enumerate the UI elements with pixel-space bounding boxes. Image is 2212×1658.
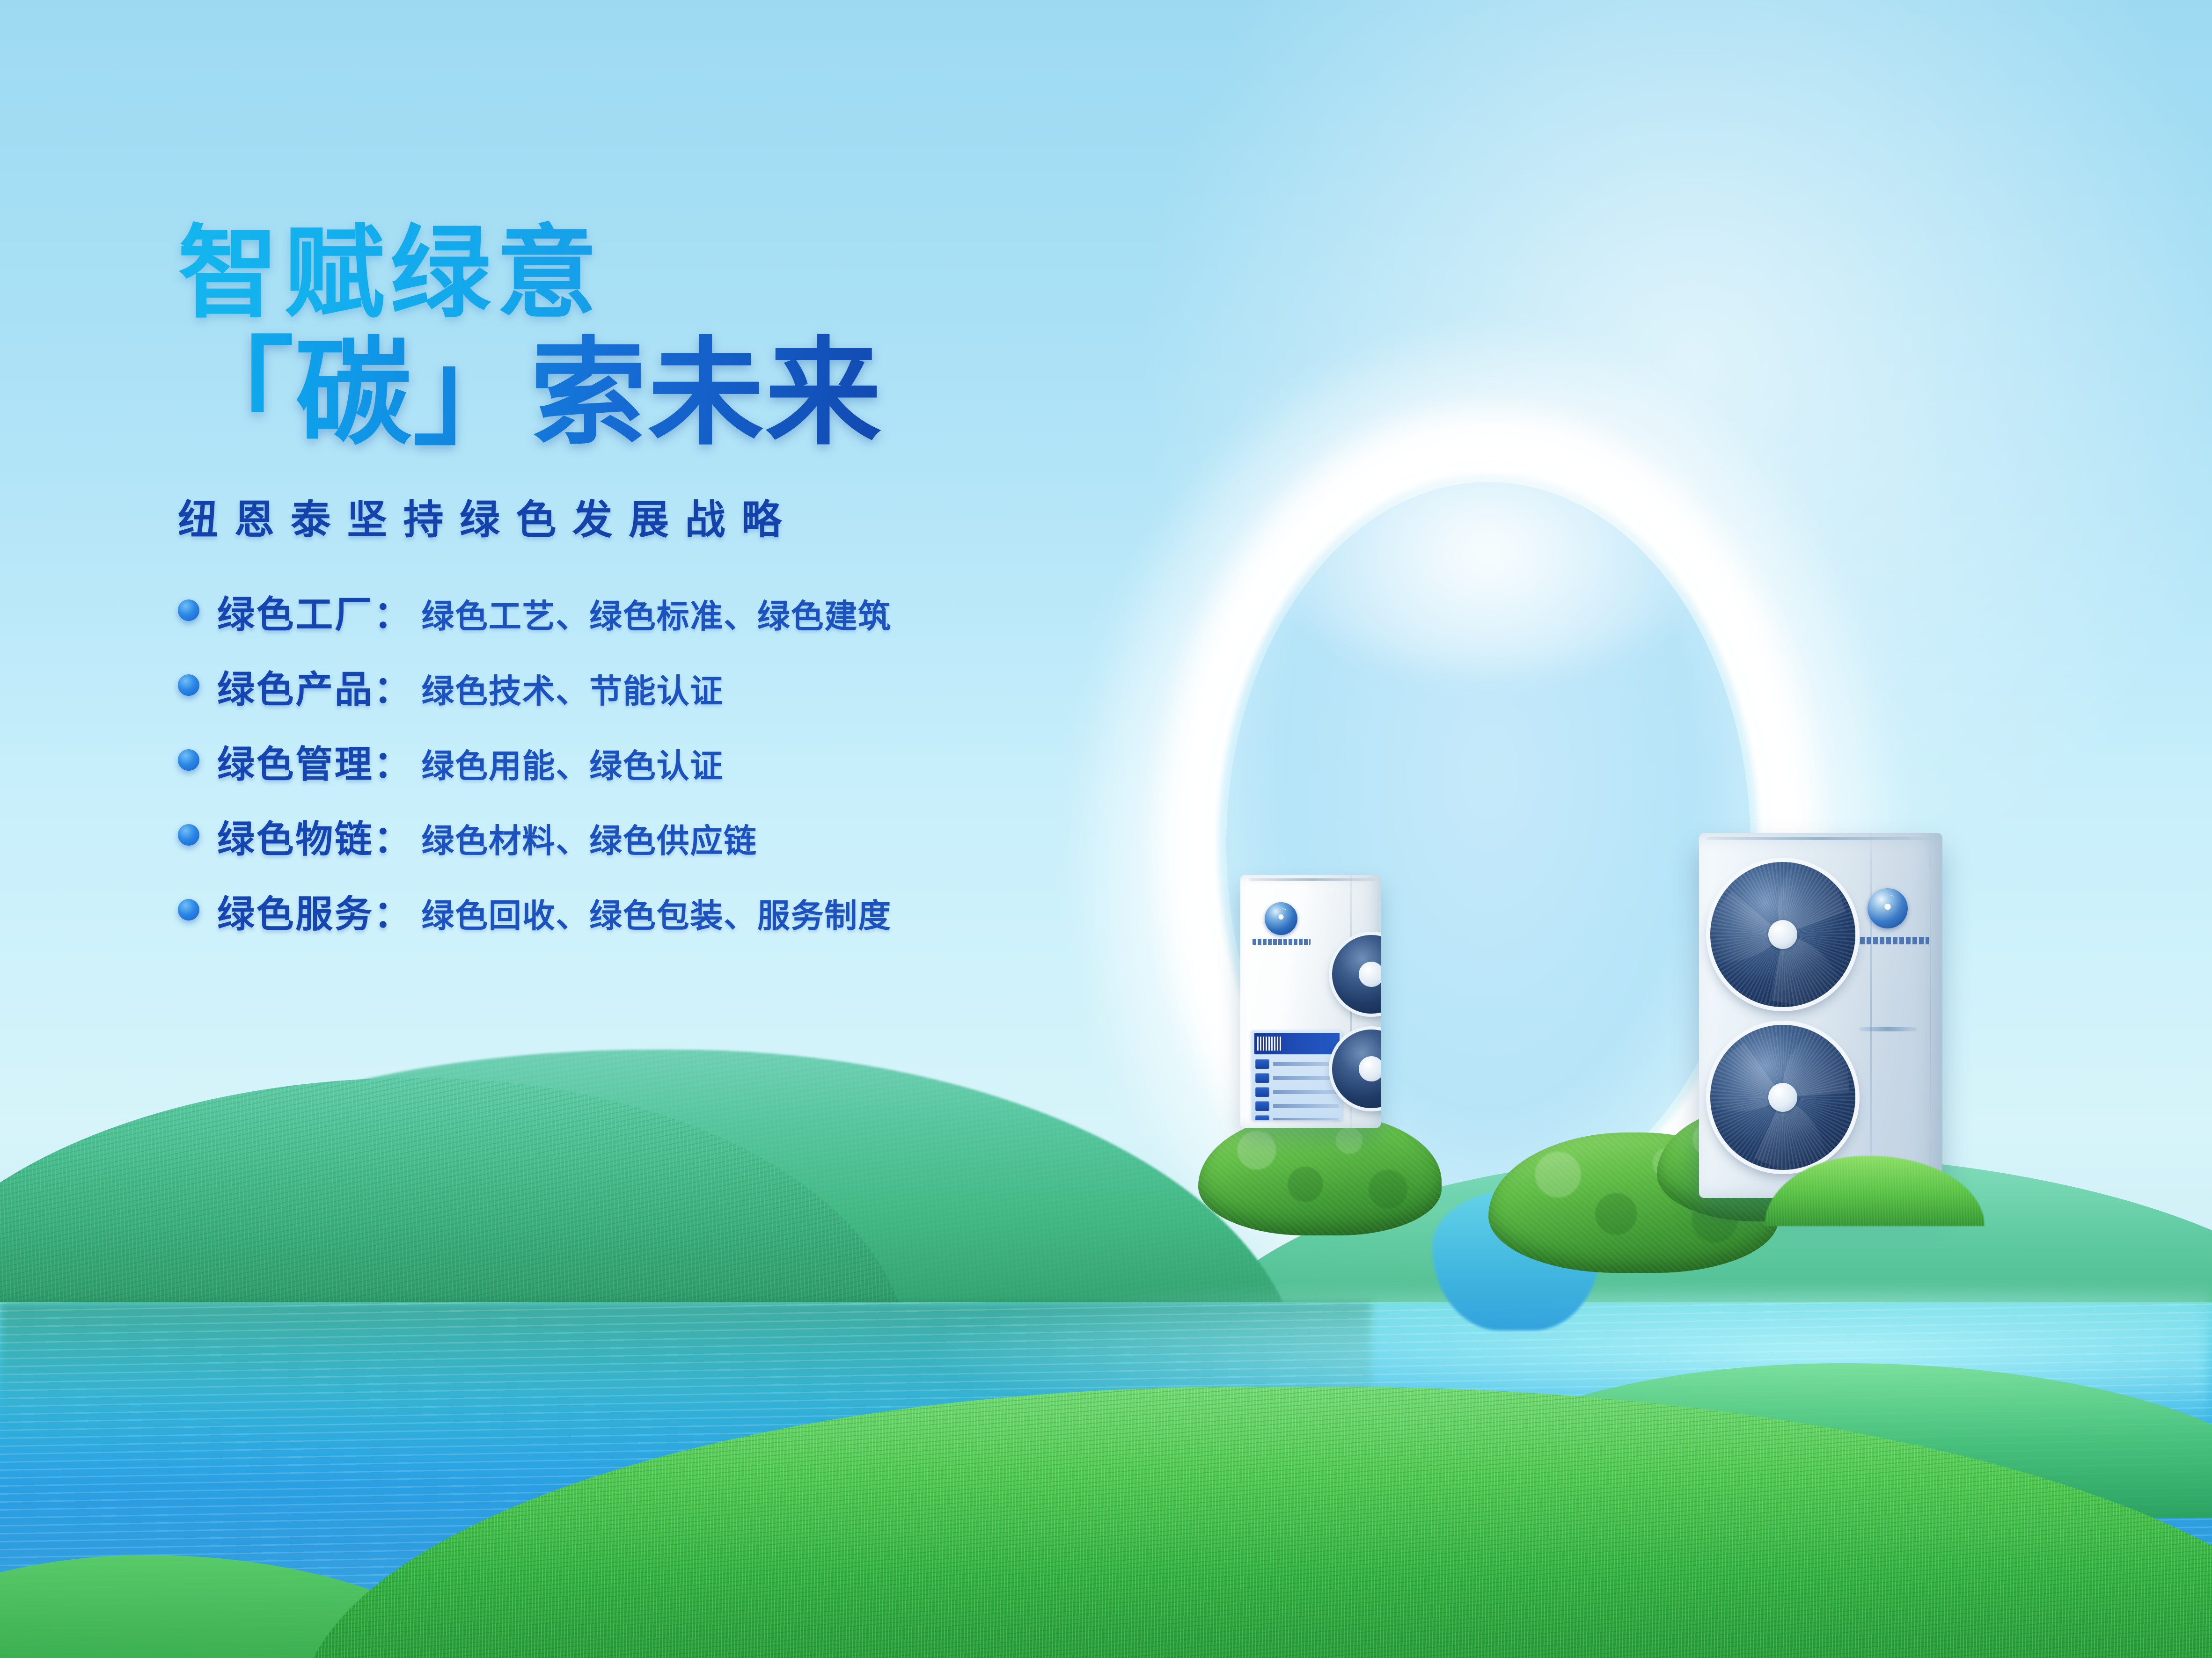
- list-item-colon: ：: [374, 734, 411, 789]
- unit-large-top-rail: [1707, 837, 1935, 840]
- spec-text-line: [1273, 1118, 1339, 1121]
- brand-logo-icon: [1868, 888, 1908, 928]
- spec-chip-icon: [1255, 1059, 1269, 1069]
- fan-hub: [1768, 1083, 1797, 1112]
- list-item: 绿色服务 ： 绿色回收、绿色包装、服务制度: [178, 884, 1184, 938]
- list-item-colon: ：: [374, 659, 411, 714]
- bullet-dot-icon: [178, 749, 199, 771]
- bullet-dot-icon: [178, 824, 199, 846]
- list-item-desc: 绿色材料、绿色供应链: [421, 815, 757, 862]
- unit-small-fan-top: [1332, 935, 1381, 1014]
- product-unit-large: [1699, 833, 1942, 1198]
- spec-chip-icon: [1255, 1087, 1269, 1097]
- list-item-colon: ：: [374, 809, 411, 863]
- spec-text-line: [1273, 1090, 1339, 1094]
- headline-line-2: 「碳」索未来: [178, 333, 1184, 454]
- spec-row: [1255, 1086, 1339, 1098]
- list-item-colon: ：: [374, 884, 411, 938]
- unit-large-fan-bottom: [1710, 1025, 1855, 1170]
- spec-chip-icon: [1255, 1101, 1269, 1111]
- list-item-desc: 绿色技术、节能认证: [421, 665, 724, 712]
- list-item-desc: 绿色回收、绿色包装、服务制度: [421, 890, 892, 937]
- spec-row: [1255, 1114, 1339, 1120]
- spec-label-rows: [1255, 1058, 1339, 1118]
- list-item-label: 绿色工厂: [217, 584, 374, 639]
- spec-chip-icon: [1255, 1115, 1269, 1121]
- list-item-desc: 绿色工艺、绿色标准、绿色建筑: [421, 590, 892, 637]
- sky-light-wash: [1062, 0, 2212, 1028]
- fan-blade: [1758, 862, 1846, 935]
- list-item-label: 绿色管理: [217, 734, 374, 789]
- list-item-desc: 绿色用能、绿色认证: [421, 740, 724, 787]
- spec-chip-icon: [1255, 1073, 1269, 1083]
- unit-large-vent: [1859, 1027, 1917, 1031]
- unit-large-fan-top: [1710, 862, 1855, 1007]
- unit-large-side-seam: [1930, 833, 1931, 1198]
- spec-label-header: [1254, 1033, 1340, 1054]
- brand-wordmark: [1252, 939, 1311, 945]
- list-item-label: 绿色产品: [217, 659, 374, 714]
- green-strategy-list: 绿色工厂 ： 绿色工艺、绿色标准、绿色建筑 绿色产品 ： 绿色技术、节能认证 绿…: [178, 584, 1184, 938]
- unit-small-spec-label: [1252, 1030, 1342, 1120]
- list-item: 绿色工厂 ： 绿色工艺、绿色标准、绿色建筑: [178, 584, 1184, 639]
- unit-small-top-rail: [1249, 878, 1375, 881]
- brand-logo-icon: [1265, 902, 1297, 935]
- spec-text-line: [1273, 1062, 1339, 1066]
- spec-row: [1255, 1058, 1339, 1070]
- spec-row: [1255, 1072, 1339, 1084]
- headline-line-1: 智赋绿意: [178, 220, 1184, 327]
- list-item-label: 绿色服务: [217, 884, 374, 938]
- bullet-dot-icon: [178, 674, 199, 696]
- list-item-label: 绿色物链: [217, 809, 374, 863]
- spec-text-line: [1273, 1076, 1339, 1080]
- list-item: 绿色产品 ： 绿色技术、节能认证: [178, 659, 1184, 714]
- fan-hub: [1768, 920, 1797, 949]
- list-item-colon: ：: [374, 584, 411, 639]
- brand-wordmark: [1847, 937, 1929, 944]
- list-item: 绿色管理 ： 绿色用能、绿色认证: [178, 734, 1184, 789]
- product-unit-small: [1240, 875, 1381, 1128]
- bullet-dot-icon: [178, 599, 199, 621]
- list-item: 绿色物链 ： 绿色材料、绿色供应链: [178, 809, 1184, 863]
- unit-large-panel-seam: [1870, 833, 1872, 1198]
- subtitle: 纽恩泰坚持绿色发展战略: [178, 487, 1184, 545]
- copy-block: 智赋绿意 「碳」索未来 纽恩泰坚持绿色发展战略 绿色工厂 ： 绿色工艺、绿色标准…: [178, 220, 1184, 959]
- bullet-dot-icon: [178, 899, 199, 920]
- spec-text-line: [1273, 1104, 1339, 1108]
- spec-row: [1255, 1100, 1339, 1112]
